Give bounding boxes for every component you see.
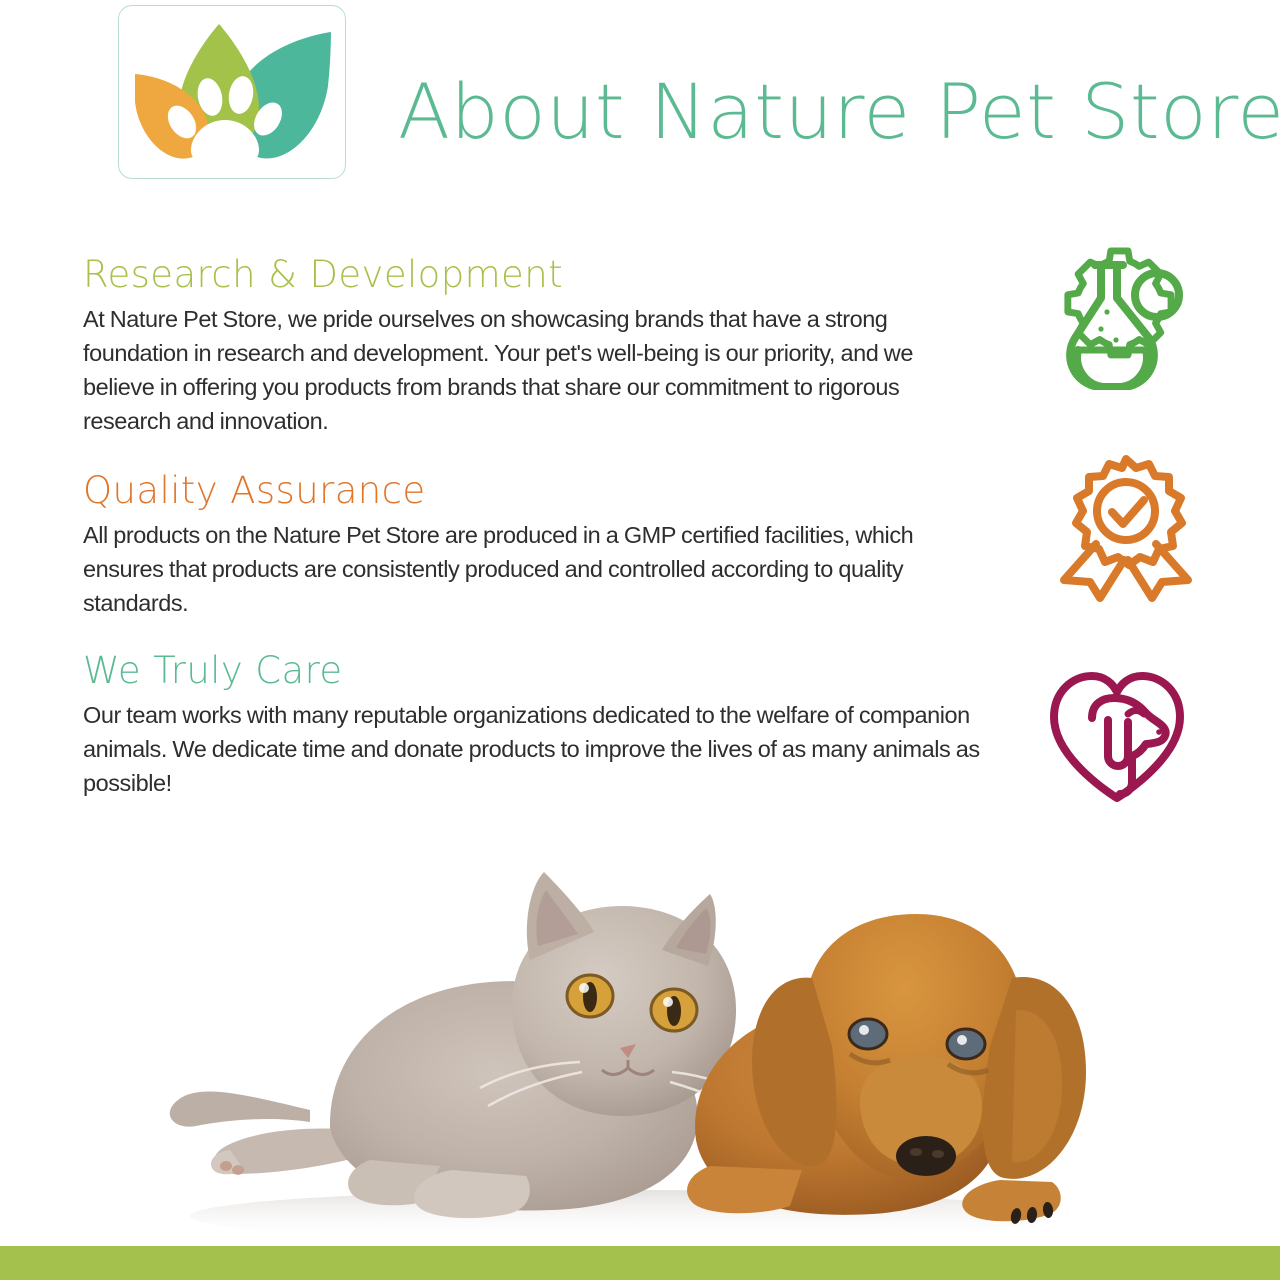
page-title: About Nature Pet Store	[398, 58, 1198, 168]
section-research-text: Research & Development At Nature Pet Sto…	[83, 252, 988, 438]
section-care-heading: We Truly Care	[83, 648, 988, 694]
heart-dog-icon	[1042, 660, 1192, 810]
footer-accent-bar	[0, 1246, 1280, 1280]
nature-pet-store-logo	[135, 24, 331, 164]
section-quality-text: Quality Assurance All products on the Na…	[83, 468, 988, 620]
section-research-body: At Nature Pet Store, we pride ourselves …	[83, 302, 988, 438]
cat-and-dog-photo	[60, 810, 1220, 1250]
logo-container	[118, 5, 346, 179]
flask-gear-icon	[1056, 240, 1206, 390]
award-ribbon-check-icon	[1052, 452, 1202, 602]
section-care-text: We Truly Care Our team works with many r…	[83, 648, 988, 800]
section-quality-heading: Quality Assurance	[83, 468, 988, 514]
page-header: About Nature Pet Store	[0, 0, 1280, 200]
section-research-heading: Research & Development	[83, 252, 988, 298]
section-care-body: Our team works with many reputable organ…	[83, 698, 988, 800]
section-quality-body: All products on the Nature Pet Store are…	[83, 518, 988, 620]
